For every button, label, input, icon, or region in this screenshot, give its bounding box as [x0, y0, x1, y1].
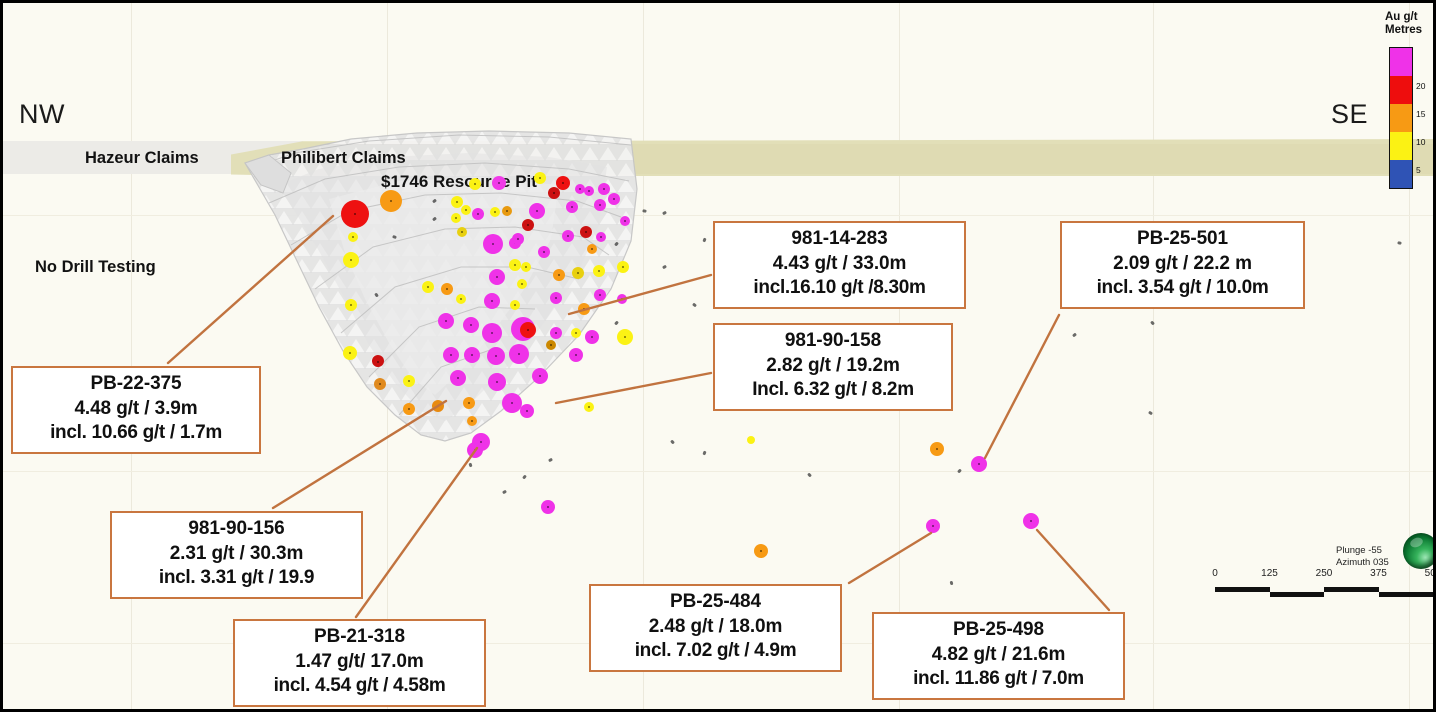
drill-intercept-dot — [520, 322, 536, 338]
drill-intercept-dot — [348, 232, 358, 242]
callout-hole-id: 981-90-158 — [727, 329, 939, 354]
drill-intercept-dot — [594, 289, 606, 301]
drill-intercept-dot — [541, 500, 555, 514]
drill-intercept-dot — [463, 317, 479, 333]
legend-swatch — [1390, 76, 1412, 104]
drill-intercept-dot — [556, 176, 570, 190]
legend-swatch — [1390, 48, 1412, 76]
drill-intercept-dot — [490, 207, 500, 217]
scale-bar-segment — [1324, 587, 1379, 592]
callout-pb-25-484: PB-25-4842.48 g/t / 18.0mincl. 7.02 g/t … — [589, 584, 842, 672]
legend-tick-label: 20 — [1416, 81, 1425, 91]
rock-speck — [950, 581, 954, 585]
orientation-label-se: SE — [1331, 99, 1368, 130]
drill-intercept-dot — [930, 442, 944, 456]
drill-intercept-dot — [441, 283, 453, 295]
drill-intercept-dot — [754, 544, 768, 558]
drill-intercept-dot — [457, 227, 467, 237]
scale-bar: 0125250375500 — [1215, 578, 1433, 600]
drill-intercept-dot — [509, 344, 529, 364]
orientation-label-nw: NW — [19, 99, 65, 130]
drill-intercept-dot — [345, 299, 357, 311]
callout-interval: 2.09 g/t / 22.2 m — [1074, 252, 1291, 277]
overburden-band-lower — [563, 144, 1436, 174]
drill-intercept-dot — [488, 373, 506, 391]
compass-sphere-icon — [1403, 533, 1436, 569]
resource-pit-label: $1746 Resource Pit — [381, 172, 537, 192]
drill-intercept-dot — [341, 200, 369, 228]
rock-speck — [1150, 321, 1155, 326]
geology-long-section-figure: NW SE Hazeur Claims Philibert Claims $17… — [0, 0, 1436, 712]
no-drill-testing-label: No Drill Testing — [35, 258, 156, 277]
callout-interval: 2.31 g/t / 30.3m — [124, 542, 349, 567]
drill-intercept-dot — [534, 172, 546, 184]
legend-tick-label: 15 — [1416, 109, 1425, 119]
rock-speck — [642, 209, 646, 213]
callout-hole-id: PB-21-318 — [247, 625, 472, 650]
drill-intercept-dot — [469, 178, 481, 190]
drill-intercept-dot — [403, 403, 415, 415]
drill-intercept-dot — [492, 176, 506, 190]
callout-included-interval: incl. 3.31 g/t / 19.9 — [124, 566, 349, 591]
drill-intercept-dot — [463, 397, 475, 409]
drill-intercept-dot — [467, 416, 477, 426]
drill-intercept-dot — [608, 193, 620, 205]
drill-intercept-dot — [509, 259, 521, 271]
hazeur-claims-label: Hazeur Claims — [85, 149, 199, 168]
drill-intercept-dot — [422, 281, 434, 293]
rock-speck — [670, 440, 675, 445]
drill-intercept-dot — [569, 348, 583, 362]
scale-bar-label: 125 — [1261, 568, 1278, 579]
drill-intercept-dot — [747, 436, 755, 444]
callout-included-interval: incl. 7.02 g/t / 4.9m — [603, 639, 828, 664]
rock-speck — [548, 458, 553, 463]
drill-intercept-dot — [580, 226, 592, 238]
scale-bar-segment — [1379, 592, 1434, 597]
drill-intercept-dot — [550, 292, 562, 304]
drill-intercept-dot — [489, 269, 505, 285]
drill-intercept-dot — [380, 190, 402, 212]
drill-intercept-dot — [529, 203, 545, 219]
legend-swatch — [1390, 132, 1412, 160]
drill-intercept-dot — [1023, 513, 1039, 529]
callout-981-90-158: 981-90-1582.82 g/t / 19.2mIncl. 6.32 g/t… — [713, 323, 953, 411]
drill-intercept-dot — [596, 232, 606, 242]
callout-interval: 2.48 g/t / 18.0m — [603, 615, 828, 640]
legend-tick-label: 5 — [1416, 165, 1421, 175]
drill-intercept-dot — [510, 300, 520, 310]
drill-intercept-dot — [343, 346, 357, 360]
callout-interval: 4.48 g/t / 3.9m — [25, 397, 247, 422]
drill-intercept-dot — [553, 269, 565, 281]
callout-interval: 4.43 g/t / 33.0m — [727, 252, 952, 277]
callout-hole-id: PB-25-484 — [603, 590, 828, 615]
callout-interval: 2.82 g/t / 19.2m — [727, 354, 939, 379]
drill-intercept-dot — [546, 340, 556, 350]
drill-intercept-dot — [520, 404, 534, 418]
callout-981-14-283: 981-14-2834.43 g/t / 33.0mincl.16.10 g/t… — [713, 221, 966, 309]
drill-intercept-dot — [566, 201, 578, 213]
callout-included-interval: incl. 10.66 g/t / 1.7m — [25, 421, 247, 446]
rock-speck — [522, 475, 527, 480]
philibert-claims-label: Philibert Claims — [281, 149, 406, 168]
scale-bar-label: 0 — [1212, 568, 1218, 579]
drill-intercept-dot — [438, 313, 454, 329]
rock-speck — [807, 473, 812, 478]
scale-bar-segment — [1270, 592, 1325, 597]
drill-intercept-dot — [432, 400, 444, 412]
drill-intercept-dot — [487, 347, 505, 365]
callout-pb-22-375: PB-22-3754.48 g/t / 3.9mincl. 10.66 g/t … — [11, 366, 261, 454]
drill-intercept-dot — [484, 293, 500, 309]
scale-bar-label: 250 — [1316, 568, 1333, 579]
drill-intercept-dot — [538, 246, 550, 258]
rock-speck — [702, 238, 706, 243]
callout-included-interval: Incl. 6.32 g/t / 8.2m — [727, 378, 939, 403]
legend-swatch — [1390, 104, 1412, 132]
legend-title-line1: Au g/t — [1385, 11, 1418, 23]
legend-tick-label: 10 — [1416, 137, 1425, 147]
callout-interval: 1.47 g/t/ 17.0m — [247, 650, 472, 675]
drill-intercept-dot — [598, 183, 610, 195]
callout-interval: 4.82 g/t / 21.6m — [886, 643, 1111, 668]
rock-speck — [1397, 241, 1402, 245]
drill-intercept-dot — [443, 347, 459, 363]
callout-included-interval: incl. 11.86 g/t / 7.0m — [886, 667, 1111, 692]
drill-intercept-dot — [450, 370, 466, 386]
callout-pb-25-498: PB-25-4984.82 g/t / 21.6mincl. 11.86 g/t… — [872, 612, 1125, 700]
drill-intercept-dot — [585, 330, 599, 344]
drill-intercept-dot — [456, 294, 466, 304]
drill-intercept-dot — [571, 328, 581, 338]
drill-intercept-dot — [522, 219, 534, 231]
drill-intercept-dot — [617, 294, 627, 304]
legend-title-line2: Metres — [1385, 24, 1422, 36]
plunge-value: Plunge -55 — [1336, 545, 1382, 556]
drill-intercept-dot — [572, 267, 584, 279]
callout-pb-25-501: PB-25-5012.09 g/t / 22.2 mincl. 3.54 g/t… — [1060, 221, 1305, 309]
rock-speck — [468, 463, 472, 468]
rock-speck — [957, 469, 962, 474]
rock-speck — [502, 490, 507, 495]
drill-intercept-dot — [451, 213, 461, 223]
drill-intercept-dot — [550, 327, 562, 339]
drill-intercept-dot — [464, 347, 480, 363]
drill-intercept-dot — [584, 402, 594, 412]
callout-hole-id: 981-14-283 — [727, 227, 952, 252]
drill-intercept-dot — [617, 261, 629, 273]
drill-intercept-dot — [584, 186, 594, 196]
callout-981-90-156: 981-90-1562.31 g/t / 30.3mincl. 3.31 g/t… — [110, 511, 363, 599]
drill-intercept-dot — [593, 265, 605, 277]
callout-hole-id: 981-90-156 — [124, 517, 349, 542]
rock-speck — [702, 451, 706, 456]
drill-intercept-dot — [521, 262, 531, 272]
azimuth-value: Azimuth 035 — [1336, 557, 1389, 568]
callout-included-interval: incl.16.10 g/t /8.30m — [727, 276, 952, 301]
drill-intercept-dot — [403, 375, 415, 387]
drill-intercept-dot — [461, 205, 471, 215]
scale-bar-segment — [1215, 587, 1270, 592]
rock-speck — [662, 265, 667, 270]
callout-hole-id: PB-22-375 — [25, 372, 247, 397]
drill-intercept-dot — [374, 378, 386, 390]
drill-intercept-dot — [971, 456, 987, 472]
drill-intercept-dot — [617, 329, 633, 345]
scale-bar-label: 500 — [1425, 568, 1436, 579]
view-orientation-text: Plunge -55 Azimuth 035 — [1336, 545, 1389, 570]
drill-intercept-dot — [373, 357, 383, 367]
drill-intercept-dot — [578, 303, 590, 315]
callout-hole-id: PB-25-501 — [1074, 227, 1291, 252]
drill-intercept-dot — [620, 216, 630, 226]
rock-speck — [692, 303, 697, 308]
drill-intercept-dot — [517, 279, 527, 289]
drill-intercept-dot — [472, 208, 484, 220]
legend-swatch — [1390, 160, 1412, 188]
drill-intercept-dot — [926, 519, 940, 533]
drill-intercept-dot — [467, 442, 483, 458]
drill-intercept-dot — [512, 233, 524, 245]
drill-intercept-dot — [532, 368, 548, 384]
drill-intercept-dot — [562, 230, 574, 242]
drill-intercept-dot — [483, 234, 503, 254]
drill-intercept-dot — [587, 244, 597, 254]
legend-title: Au g/t Metres — [1385, 11, 1422, 37]
callout-included-interval: incl. 3.54 g/t / 10.0m — [1074, 276, 1291, 301]
callout-included-interval: incl. 4.54 g/t / 4.58m — [247, 674, 472, 699]
callout-hole-id: PB-25-498 — [886, 618, 1111, 643]
drill-intercept-dot — [594, 199, 606, 211]
color-legend: Au g/t Metres 2015105 — [1379, 3, 1433, 218]
legend-color-bar — [1389, 47, 1413, 189]
drill-intercept-dot — [502, 206, 512, 216]
rock-speck — [1072, 333, 1077, 338]
drill-intercept-dot — [343, 252, 359, 268]
callout-pb-21-318: PB-21-3181.47 g/t/ 17.0mincl. 4.54 g/t /… — [233, 619, 486, 707]
drill-intercept-dot — [502, 393, 522, 413]
drill-intercept-dot — [482, 323, 502, 343]
